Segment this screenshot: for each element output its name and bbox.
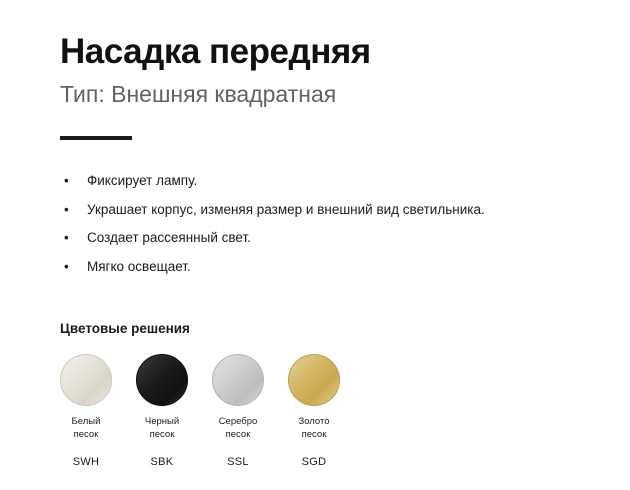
list-item-text: Украшает корпус, изменяя размер и внешни… (87, 202, 485, 217)
document-page: Насадка передняя Тип: Внешняя квадратная… (0, 0, 630, 490)
swatch-name: Золото песок (288, 416, 340, 442)
swatch-name-line2: песок (288, 429, 340, 442)
list-item-text: Мягко освещает. (87, 259, 191, 274)
swatch-code: SWH (60, 456, 112, 468)
bullet-icon: • (64, 258, 69, 276)
swatch-name: Серебро песок (212, 416, 264, 442)
list-item: • Создает рассеянный свет. (60, 229, 590, 247)
swatch-disc-icon (60, 354, 112, 406)
bullet-icon: • (64, 201, 69, 219)
bullet-icon: • (64, 172, 69, 190)
list-item: • Украшает корпус, изменяя размер и внеш… (60, 201, 590, 219)
swatch-name-line2: песок (136, 429, 188, 442)
feature-list: • Фиксирует лампу. • Украшает корпус, из… (60, 172, 590, 276)
bullet-icon: • (64, 229, 69, 247)
list-item-text: Создает рассеянный свет. (87, 230, 251, 245)
color-swatch-swh[interactable]: Белый песок SWH (60, 354, 112, 468)
swatch-disc-icon (212, 354, 264, 406)
color-swatch-sbk[interactable]: Черный песок SBK (136, 354, 188, 468)
swatch-disc-icon (136, 354, 188, 406)
color-swatch-list: Белый песок SWH Черный песок SBK Серебро… (60, 354, 590, 468)
list-item: • Фиксирует лампу. (60, 172, 590, 190)
swatch-name-line1: Золото (288, 416, 340, 429)
color-swatch-ssl[interactable]: Серебро песок SSL (212, 354, 264, 468)
list-item: • Мягко освещает. (60, 258, 590, 276)
title-divider (60, 136, 132, 140)
swatch-name-line1: Черный (136, 416, 188, 429)
swatch-code: SBK (136, 456, 188, 468)
swatch-disc-icon (288, 354, 340, 406)
swatch-code: SGD (288, 456, 340, 468)
page-title: Насадка передняя (60, 24, 590, 72)
swatch-name-line2: песок (212, 429, 264, 442)
page-subtitle: Тип: Внешняя квадратная (60, 81, 590, 109)
swatch-name: Белый песок (60, 416, 112, 442)
colors-section-heading: Цветовые решения (60, 321, 590, 336)
document-content: Насадка передняя Тип: Внешняя квадратная… (60, 24, 590, 468)
swatch-name-line2: песок (60, 429, 112, 442)
swatch-name: Черный песок (136, 416, 188, 442)
swatch-code: SSL (212, 456, 264, 468)
swatch-name-line1: Белый (60, 416, 112, 429)
color-swatch-sgd[interactable]: Золото песок SGD (288, 354, 340, 468)
list-item-text: Фиксирует лампу. (87, 173, 197, 188)
swatch-name-line1: Серебро (212, 416, 264, 429)
